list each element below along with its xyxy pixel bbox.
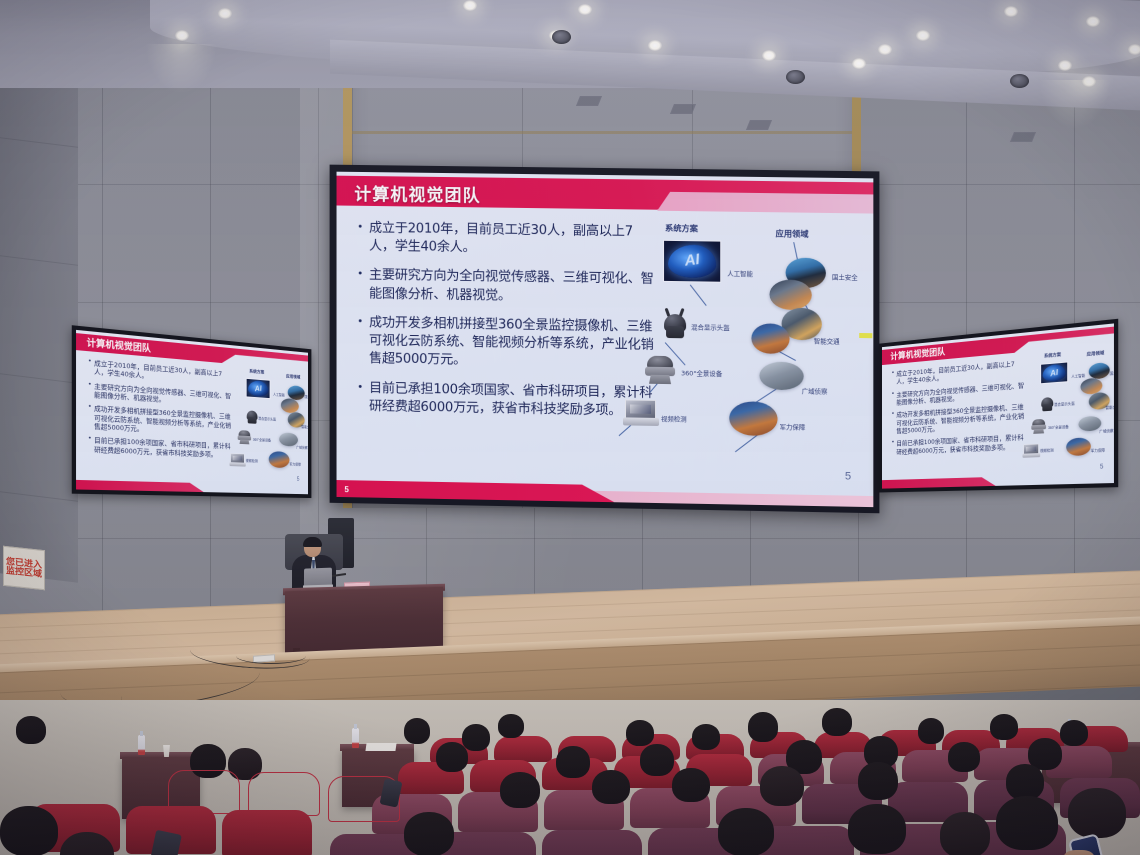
ai-brain-icon: AI [663, 240, 721, 283]
panoramic-camera-icon [643, 356, 677, 387]
audience-head [498, 714, 524, 738]
helmet-body [1042, 404, 1052, 411]
left-wall-panel-grid [0, 13, 78, 583]
bullet-marker: • [892, 440, 894, 456]
lecture-hall-scene: 您已进入 监控区域 计算机视觉团队 • 成立于2010年，目前员工近30人，副高… [0, 0, 1140, 855]
ai-brain-icon: AI [1040, 361, 1068, 384]
ceiling-speaker-icon [786, 70, 805, 84]
audience-head [0, 806, 58, 855]
ceiling-speaker-icon [552, 30, 571, 44]
vr-helmet-icon [662, 308, 688, 338]
vr-helmet-icon [246, 407, 253, 416]
mini-header-system: 系统方案 [249, 368, 264, 375]
presenter-desk [285, 587, 443, 653]
monitor-screen [625, 399, 656, 419]
mini-label-traffic: 智能交通 [301, 424, 308, 429]
downlight-icon [1128, 44, 1140, 55]
video-monitor-icon [1023, 444, 1041, 459]
mini-label-video: 视频检测 [1040, 447, 1053, 453]
audience-head [16, 716, 46, 744]
audience-head [592, 770, 630, 804]
audience-head [948, 742, 980, 772]
audience-head [748, 712, 778, 742]
presentation-slide: 计算机视觉团队 • 成立于2010年，目前员工近30人，副高以上7人，学生40余… [337, 172, 874, 507]
downlight-icon [1004, 6, 1018, 17]
surveillance-area-sign: 您已进入 监控区域 [3, 546, 45, 590]
diagram-label-traffic: 智能交通 [814, 336, 840, 345]
smart-traffic-blob [281, 398, 299, 414]
mini-label-military: 军力保障 [289, 461, 301, 466]
list-item: • 成功开发多相机拼接型360全景监控摄像机、三维可视化云防系统、智能视频分析等… [892, 403, 1026, 436]
diagram-label-video: 视频检测 [661, 414, 687, 423]
mini-label-ai: 人工智能 [273, 392, 285, 398]
ai-glyph: AI [683, 251, 700, 270]
diagram-label-recon: 广域侦察 [802, 386, 828, 395]
audience-head [718, 808, 774, 855]
mini-bullet-list: • 成立于2010年，目前员工近30人，副高以上7人，学生40余人。 • 主要研… [892, 359, 1026, 461]
list-item: • 成功开发多相机拼接型360全景监控摄像机、三维可视化云防系统、智能视频分析等… [358, 314, 657, 373]
list-item: • 主要研究方向为全向视觉传感器、三维可视化、智能图像分析、机器视觉。 [358, 267, 657, 308]
audience-area [0, 700, 1140, 855]
mini-page-number: 5 [297, 477, 300, 483]
highlight-marker [859, 333, 872, 338]
bullet-text: 主要研究方向为全向视觉传感器、三维可视化、智能图像分析、机器视觉。 [94, 382, 233, 409]
video-monitor-icon [623, 399, 659, 427]
audience-head [848, 804, 906, 854]
downlight-icon [1086, 16, 1100, 27]
audience-head [1006, 764, 1044, 800]
sign-line-2: 监控区域 [6, 566, 42, 579]
bullet-text: 目前已承担100余项国家、省市科研项目，累计科研经费超6000万元，获省市科技奖… [94, 436, 233, 459]
seat[interactable] [542, 830, 642, 855]
wide-area-recon-blob [1078, 416, 1101, 432]
ai-brain-icon: AI [246, 378, 271, 399]
slide-bullet-list: • 成立于2010年，目前员工近30人，副高以上7人，学生40余人。 • 主要研… [358, 220, 657, 432]
bullet-marker: • [892, 391, 894, 407]
audience-head [556, 746, 590, 778]
mini-page-number: 5 [1100, 464, 1104, 470]
ai-glyph: AI [1049, 367, 1058, 378]
slide-diagram: 系统方案 应用领域 AI 人工智能 [635, 221, 873, 476]
audience-head [672, 768, 710, 802]
monitor-base [623, 417, 659, 426]
wide-area-recon-blob [759, 362, 803, 391]
monitor-base [1023, 453, 1041, 458]
bullet-marker: • [89, 404, 91, 431]
helmet-body [666, 326, 684, 338]
downlight-icon [762, 50, 776, 61]
bullet-marker: • [89, 436, 91, 454]
panoramic-camera-icon [1030, 419, 1047, 435]
mini-label-ai: 人工智能 [1071, 373, 1085, 379]
seat[interactable] [222, 810, 312, 855]
ceiling-vent-icon [576, 96, 602, 106]
mini-label-traffic: 智能交通 [1105, 404, 1113, 410]
mini-header-system: 系统方案 [1044, 352, 1061, 360]
diagram-column-header-application: 应用领域 [776, 227, 809, 239]
military-support-blob [729, 401, 777, 436]
mini-footer-band [882, 473, 1114, 488]
smart-traffic-blob [769, 279, 811, 310]
mini-label-security: 国土安全 [305, 394, 308, 400]
audience-head [500, 772, 540, 808]
footer-page-badge: 5 [344, 485, 348, 494]
ceiling-vent-icon [746, 120, 772, 130]
monitor-base [230, 462, 246, 466]
vr-helmet-icon [1040, 394, 1048, 404]
ai-glyph: AI [254, 384, 262, 393]
ceiling-vent-icon [670, 104, 696, 114]
ceiling-vent-icon [1010, 132, 1036, 142]
downlight-icon [916, 30, 930, 41]
main-led-screen[interactable]: 计算机视觉团队 • 成立于2010年，目前员工近30人，副高以上7人，学生40余… [330, 165, 880, 514]
slide-footer-accent [571, 490, 873, 507]
camera-base [1033, 429, 1044, 434]
downlight-icon [648, 40, 662, 51]
military-support-blob [269, 451, 290, 468]
audience-head [760, 766, 804, 806]
frame-trim-line [352, 131, 852, 134]
mini-label-recon: 广域侦察 [296, 445, 307, 450]
audience-head [436, 742, 468, 772]
diagram-label-military: 军力保障 [780, 422, 806, 431]
audience-head [1060, 720, 1088, 746]
bullet-marker: • [892, 371, 894, 387]
mini-label-security: 国土安全 [1110, 369, 1114, 375]
mini-label-helmet: 混合显示头盔 [258, 416, 276, 422]
bullet-text: 主要研究方向为全向视觉传感器、三维可视化、智能图像分析、机器视觉。 [369, 267, 657, 308]
bullet-marker: • [358, 267, 362, 281]
list-item: • 目前已承担100余项国家、省市科研项目，累计科研经费超6000万元，获省市科… [358, 379, 657, 420]
camera-ring [645, 367, 675, 377]
bullet-text: 成功开发多相机拼接型360全景监控摄像机、三维可视化云防系统、智能视频分析等系统… [369, 314, 657, 373]
diagram-column-header-system: 系统方案 [665, 222, 698, 234]
audience-head [626, 720, 654, 746]
bullet-marker: • [89, 359, 91, 377]
downlight-icon [463, 0, 477, 11]
wide-area-recon-blob [279, 432, 298, 446]
mini-bullet-list: • 成立于2010年，目前员工近30人，副高以上7人，学生40余人。 • 主要研… [89, 359, 233, 465]
right-side-monitor[interactable]: 计算机视觉团队 • 成立于2010年，目前员工近30人，副高以上7人，学生40余… [879, 319, 1119, 493]
audience-head [940, 812, 990, 855]
video-monitor-icon [230, 453, 246, 467]
audience-head [990, 714, 1018, 740]
camera-base [239, 439, 249, 444]
presenter-hair [303, 537, 322, 547]
audience-head [404, 812, 454, 855]
helmet-body [248, 417, 257, 424]
wall-light-pool [146, 44, 216, 92]
seat[interactable] [494, 736, 552, 762]
mini-diagram: 系统方案 应用领域 AI 人工智能 混合显示头盔 360°全景设备 [1026, 346, 1114, 472]
audience-head [858, 762, 898, 800]
cable [236, 648, 306, 664]
bullet-text: 目前已承担100余项国家、省市科研项目，累计科研经费超6000万元，获省市科技奖… [896, 434, 1026, 456]
homeland-security-blob [1089, 362, 1110, 380]
downlight-icon [878, 44, 892, 55]
traffic-blob-3 [751, 323, 789, 354]
downlight-icon [1058, 60, 1072, 71]
mini-label-360: 360°全景设备 [1048, 424, 1069, 430]
mini-label-video: 视频检测 [246, 458, 258, 463]
mini-header-application: 应用领域 [286, 373, 300, 380]
mini-label-helmet: 混合显示头盔 [1054, 400, 1075, 407]
mini-label-recon: 广域侦察 [1099, 428, 1113, 434]
slide-title: 计算机视觉团队 [354, 180, 480, 207]
bullet-marker: • [358, 314, 362, 328]
camera-base [649, 375, 671, 384]
bullet-text: 目前已承担100余项国家、省市科研项目，累计科研经费超6000万元，获省市科技奖… [369, 380, 657, 421]
mini-diagram: 系统方案 应用领域 AI 人工智能 混合显示头盔 360°全景设备 [233, 367, 308, 482]
diagram-label-360: 360°全景设备 [681, 368, 722, 378]
audience-head [462, 724, 490, 751]
audience-head [918, 718, 944, 744]
military-support-blob [1066, 437, 1091, 456]
downlight-icon [578, 4, 592, 15]
bullet-marker: • [892, 412, 894, 436]
diagram-label-ai: 人工智能 [727, 269, 753, 278]
mini-header-application: 应用领域 [1087, 350, 1105, 358]
audience-head [404, 718, 430, 744]
slide-page-number: 5 [845, 470, 851, 482]
panoramic-camera-icon [237, 430, 252, 445]
audience-head [822, 708, 852, 736]
list-item: • 成功开发多相机拼接型360全景监控摄像机、三维可视化云防系统、智能视频分析等… [89, 404, 233, 438]
mini-label-military: 军力保障 [1091, 447, 1105, 453]
left-side-monitor[interactable]: 计算机视觉团队 • 成立于2010年，目前员工近30人，副高以上7人，学生40余… [72, 325, 312, 498]
mini-label-360: 360°全景设备 [253, 437, 271, 443]
diagram-connector [690, 285, 707, 306]
hand-holding-phone [1064, 850, 1094, 855]
list-item: • 目前已承担100余项国家、省市科研项目，累计科研经费超6000万元，获省市科… [892, 434, 1026, 457]
downlight-icon [218, 8, 232, 19]
audience-head [996, 796, 1058, 850]
bullet-marker: • [358, 220, 362, 234]
bullet-marker: • [358, 379, 362, 393]
audience-head [692, 724, 720, 750]
bullet-text: 成功开发多相机拼接型360全景监控摄像机、三维可视化云防系统、智能视频分析等系统… [896, 403, 1026, 435]
audience-head [1068, 788, 1126, 838]
list-item: • 目前已承担100余项国家、省市科研项目，累计科研经费超6000万元，获省市科… [89, 436, 233, 459]
mini-footer-band [76, 480, 308, 494]
downlight-icon [852, 58, 866, 69]
bullet-text: 成功开发多相机拼接型360全景监控摄像机、三维可视化云防系统、智能视频分析等系统… [94, 405, 233, 438]
bullet-marker: • [89, 382, 91, 400]
downlight-icon [175, 30, 189, 41]
left-monitor-slide: 计算机视觉团队 • 成立于2010年，目前员工近30人，副高以上7人，学生40余… [76, 330, 308, 494]
diagram-label-security: 国土安全 [832, 272, 858, 281]
diagram-label-helmet: 混合显示头盔 [691, 322, 729, 332]
ceiling-speaker-icon [1010, 74, 1029, 88]
list-item: • 成立于2010年，目前员工近30人，副高以上7人，学生40余人。 [358, 220, 657, 260]
slide-title-accent [657, 192, 873, 214]
wall-light-pool [1040, 80, 1110, 128]
bullet-text: 成立于2010年，目前员工近30人，副高以上7人，学生40余人。 [369, 220, 657, 260]
audience-head [640, 744, 674, 776]
left-side-wall [0, 13, 78, 583]
right-monitor-slide: 计算机视觉团队 • 成立于2010年，目前员工近30人，副高以上7人，学生40余… [882, 323, 1114, 488]
